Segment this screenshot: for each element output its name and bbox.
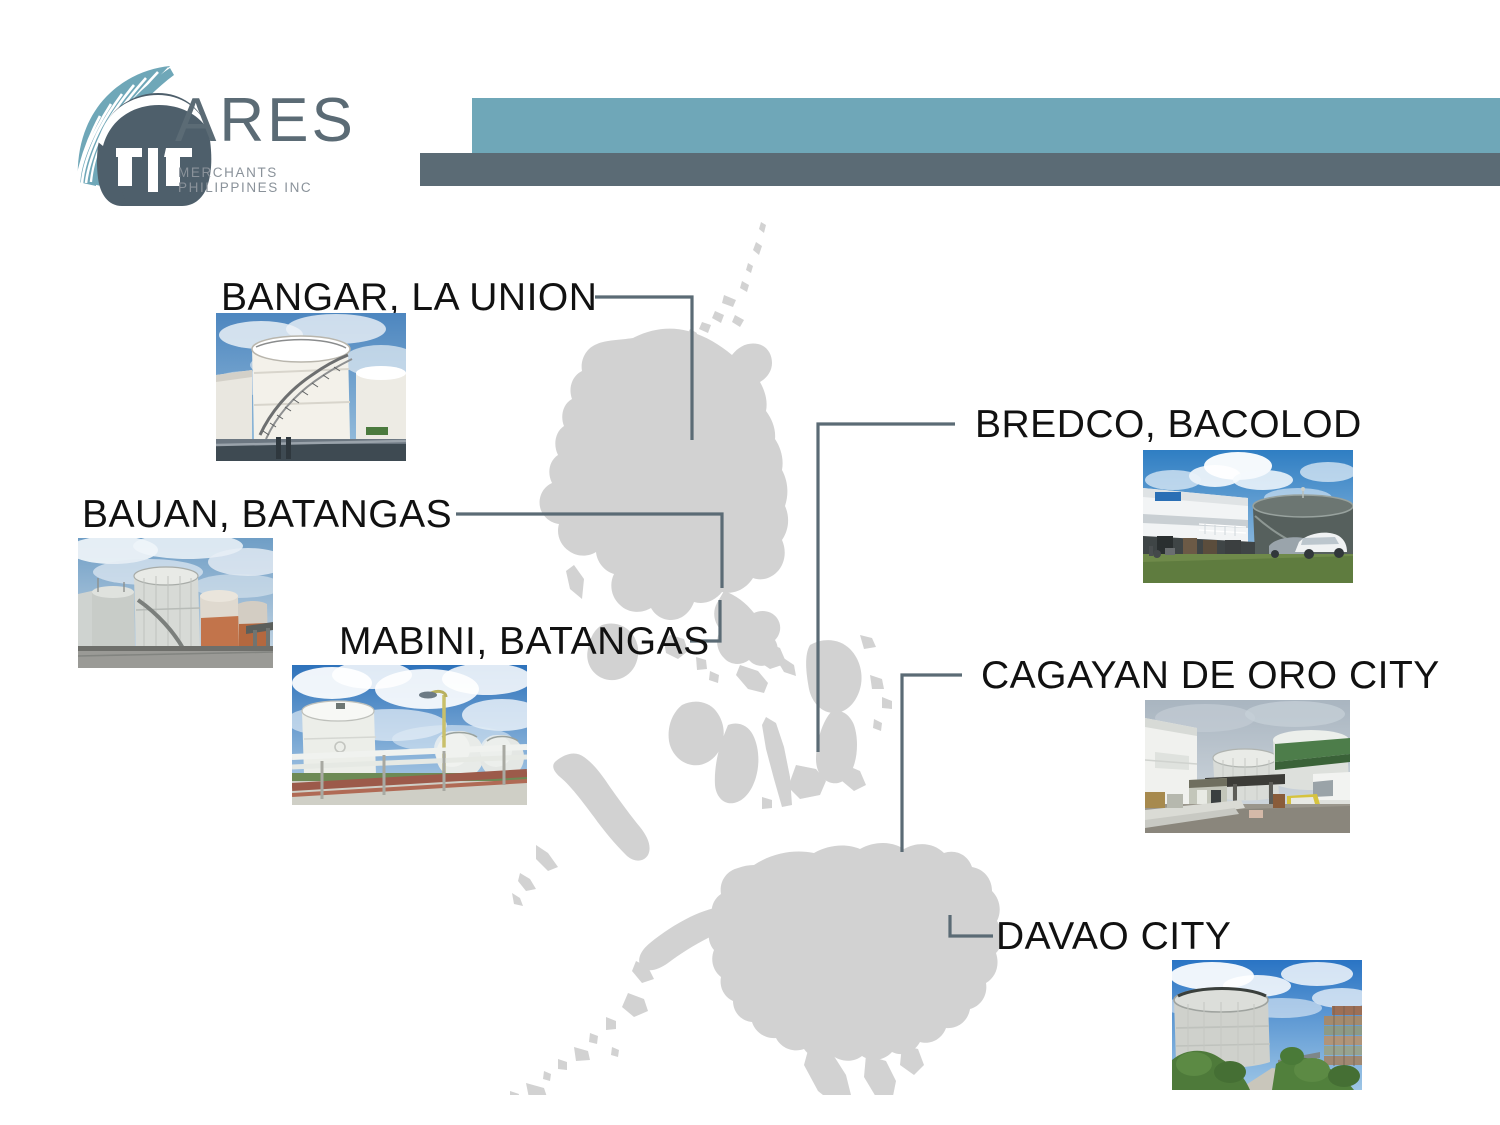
location-photo-davao-city: [1172, 960, 1362, 1090]
location-photo-bredco-bacolod: [1143, 450, 1353, 583]
header-bar-primary: [472, 98, 1500, 153]
slide-canvas: ARES MERCHANTS PHILIPPINES INC: [0, 0, 1500, 1125]
location-label-bredco-bacolod: BREDCO, BACOLOD: [975, 405, 1362, 444]
location-photo-bangar-la-union: [216, 313, 406, 461]
company-logo: ARES MERCHANTS PHILIPPINES INC: [70, 62, 380, 210]
location-photo-cagayan-de-oro-city: [1145, 700, 1350, 833]
location-label-bauan-batangas: BAUAN, BATANGAS: [82, 495, 452, 534]
location-label-davao-city: DAVAO CITY: [996, 917, 1231, 956]
location-photo-bauan-batangas: [78, 538, 273, 668]
logo-tagline: MERCHANTS PHILIPPINES INC: [178, 165, 380, 195]
location-label-bangar-la-union: BANGAR, LA UNION: [221, 278, 597, 317]
header-bar-secondary: [420, 153, 1500, 186]
location-photo-mabini-batangas: [292, 665, 527, 805]
logo-wordmark: ARES: [175, 90, 356, 152]
location-label-cagayan-de-oro-city: CAGAYAN DE ORO CITY: [981, 656, 1440, 695]
location-label-mabini-batangas: MABINI, BATANGAS: [339, 622, 710, 661]
